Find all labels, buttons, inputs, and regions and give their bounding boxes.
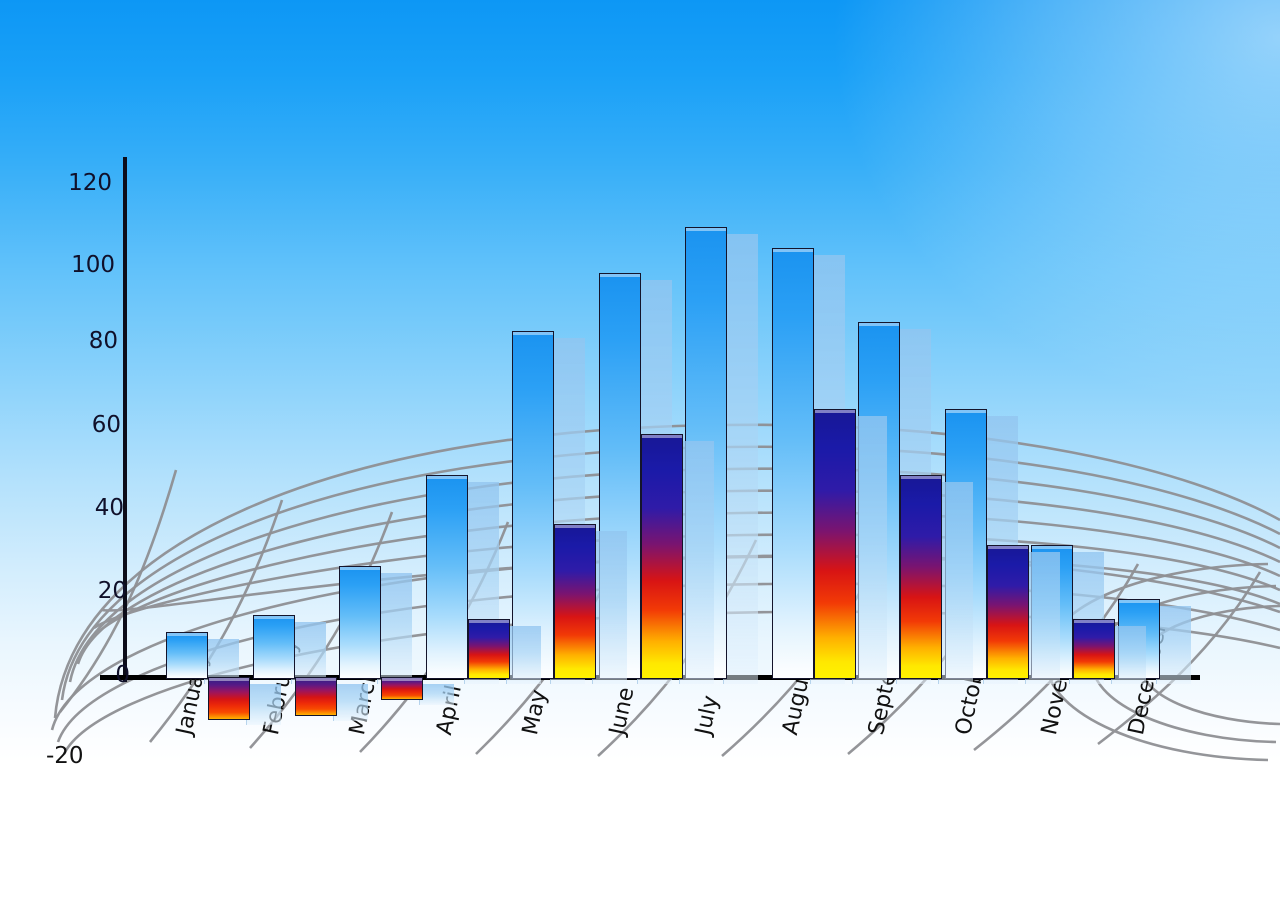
bar-top-bevel bbox=[254, 616, 294, 619]
bar-front-face bbox=[900, 475, 942, 679]
bar-depth-slab bbox=[506, 626, 541, 684]
plot-area: 120 100 80 60 40 20 0 -20 JanuaryFebruar… bbox=[0, 0, 1280, 905]
x-tick-label-may: May bbox=[518, 688, 552, 738]
x-tick-label-july: July bbox=[691, 693, 724, 737]
bar-depth-slab bbox=[333, 684, 368, 721]
bar-top-bevel bbox=[600, 274, 640, 277]
bar-front-face bbox=[554, 524, 596, 679]
bar-top-bevel bbox=[555, 525, 595, 528]
bar-front-face bbox=[381, 677, 423, 700]
bar-series2[interactable] bbox=[987, 545, 1027, 677]
bar-series2[interactable] bbox=[814, 409, 854, 677]
bar-depth-slab bbox=[246, 684, 281, 725]
bar-series2[interactable] bbox=[1073, 619, 1113, 677]
bar-depth-slab bbox=[852, 416, 887, 684]
bar-front-face bbox=[468, 619, 510, 679]
y-tick-label-neg20: -20 bbox=[46, 743, 126, 769]
bar-front-face bbox=[641, 434, 683, 679]
bar-top-bevel bbox=[296, 678, 336, 681]
bar-depth-slab bbox=[377, 573, 412, 684]
bar-series2[interactable] bbox=[554, 524, 594, 677]
bar-top-bevel bbox=[988, 546, 1028, 549]
bar-series2[interactable] bbox=[381, 677, 421, 698]
bar-front-face bbox=[208, 677, 250, 720]
bar-depth-slab bbox=[592, 531, 627, 684]
bar-series1[interactable] bbox=[339, 566, 379, 677]
bar-series1[interactable] bbox=[166, 632, 206, 677]
bar-top-bevel bbox=[167, 633, 207, 636]
bar-series1[interactable] bbox=[426, 475, 466, 677]
bar-depth-slab bbox=[419, 684, 454, 705]
bar-top-bevel bbox=[859, 323, 899, 326]
bar-top-bevel bbox=[642, 435, 682, 438]
y-tick-label-120: 120 bbox=[52, 170, 112, 196]
y-tick-label-60: 60 bbox=[61, 412, 121, 438]
bar-chart-figure: 120 100 80 60 40 20 0 -20 JanuaryFebruar… bbox=[0, 0, 1280, 905]
bar-front-face bbox=[166, 632, 208, 679]
bar-top-bevel bbox=[1032, 546, 1072, 549]
y-tick-label-80: 80 bbox=[58, 328, 118, 354]
y-tick-label-20: 20 bbox=[67, 578, 127, 604]
bar-front-face bbox=[253, 615, 295, 679]
y-tick-label-40: 40 bbox=[64, 495, 124, 521]
bar-series1[interactable] bbox=[253, 615, 293, 677]
bar-front-face bbox=[295, 677, 337, 716]
bar-series2[interactable] bbox=[208, 677, 248, 718]
bar-series1[interactable] bbox=[512, 331, 552, 678]
bar-top-bevel bbox=[382, 678, 422, 681]
bar-top-bevel bbox=[1074, 620, 1114, 623]
bar-series2[interactable] bbox=[641, 434, 681, 677]
bar-front-face bbox=[814, 409, 856, 679]
bar-front-face bbox=[1073, 619, 1115, 679]
bar-top-bevel bbox=[513, 332, 553, 335]
bar-series2[interactable] bbox=[468, 619, 508, 677]
bar-top-bevel bbox=[815, 410, 855, 413]
bar-depth-slab bbox=[1025, 552, 1060, 684]
y-tick-label-100: 100 bbox=[55, 252, 115, 278]
bar-top-bevel bbox=[686, 228, 726, 231]
bar-depth-slab bbox=[938, 482, 973, 684]
bar-series2[interactable] bbox=[900, 475, 940, 677]
bar-front-face bbox=[426, 475, 468, 679]
bar-top-bevel bbox=[469, 620, 509, 623]
bar-top-bevel bbox=[209, 678, 249, 681]
bar-top-bevel bbox=[1119, 600, 1159, 603]
bar-front-face bbox=[339, 566, 381, 679]
bar-top-bevel bbox=[427, 476, 467, 479]
bar-front-face bbox=[987, 545, 1029, 679]
bar-top-bevel bbox=[946, 410, 986, 413]
bar-depth-slab bbox=[1111, 626, 1146, 684]
bar-top-bevel bbox=[340, 567, 380, 570]
y-tick-label-0: 0 bbox=[70, 662, 130, 688]
bar-top-bevel bbox=[773, 249, 813, 252]
bar-depth-slab bbox=[291, 622, 326, 684]
bar-depth-slab bbox=[723, 234, 758, 684]
bar-depth-slab bbox=[1156, 606, 1191, 684]
bar-series1[interactable] bbox=[772, 248, 812, 677]
bar-top-bevel bbox=[901, 476, 941, 479]
bar-front-face bbox=[772, 248, 814, 679]
bar-series2[interactable] bbox=[295, 677, 335, 714]
x-tick-label-june: June bbox=[605, 685, 639, 737]
bar-depth-slab bbox=[679, 441, 714, 684]
